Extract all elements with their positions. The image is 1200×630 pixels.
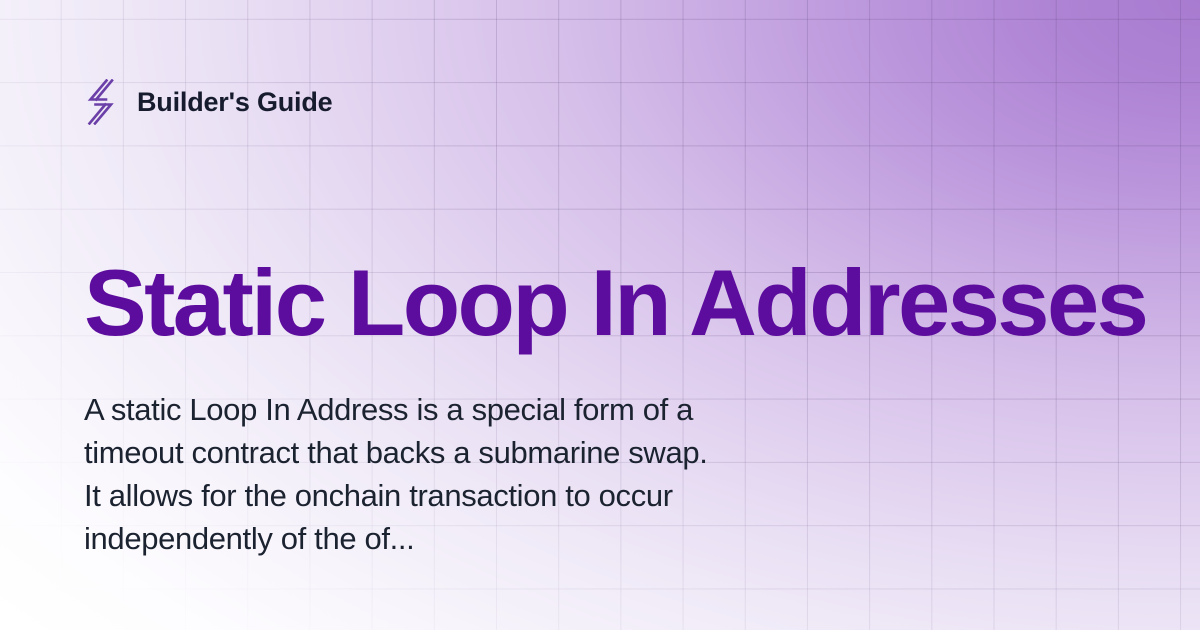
page-title: Static Loop In Addresses	[84, 256, 1146, 350]
description-text: A static Loop In Address is a special fo…	[84, 388, 884, 560]
og-card: Builder's Guide Static Loop In Addresses…	[0, 0, 1200, 630]
description-line: It allows for the onchain transaction to…	[84, 474, 884, 517]
description-line: independently of the of...	[84, 517, 884, 560]
brand-name-label: Builder's Guide	[137, 87, 332, 118]
lightning-bolt-icon	[84, 79, 118, 125]
card-content: Builder's Guide Static Loop In Addresses…	[0, 0, 1200, 630]
description-line: A static Loop In Address is a special fo…	[84, 388, 884, 431]
description-line: timeout contract that backs a submarine …	[84, 431, 884, 474]
brand-lockup: Builder's Guide	[84, 79, 332, 125]
